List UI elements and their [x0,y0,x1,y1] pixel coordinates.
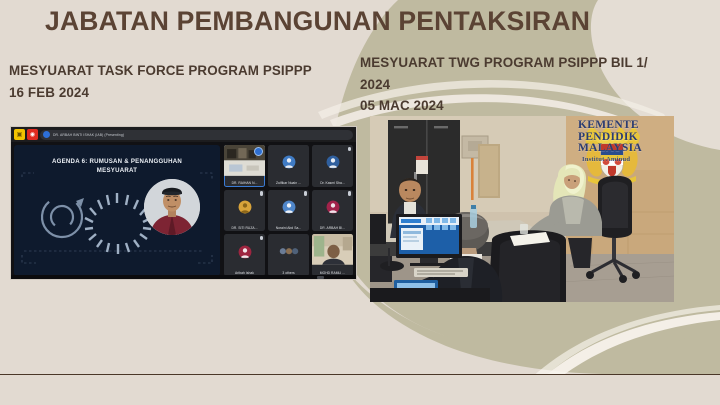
participant-name: Aribah Ishak [226,271,263,275]
participant-tile[interactable]: Zulfikar Nuain ... [268,145,309,187]
shared-screen-stage[interactable]: AGENDA 6: RUMUSAN & PENANGGUHAN MESYUARA… [14,145,220,276]
zoom-toolbar-control-icon[interactable] [317,276,324,279]
participant-avatar-icon [238,245,251,258]
presenter-portrait-illustration [144,179,200,235]
photo-content: KEMENTE PENDIDIK MALAYSIA Institut Aminu… [370,116,674,302]
participant-name: DR. ARBAH BI... [314,226,351,230]
subtitle-left-block: MESYUARAT TASK FORCE PROGRAM PSIPPP 16 F… [9,60,349,103]
muted-microphone-icon [260,236,263,241]
participant-tile[interactable]: DR. ARBAH BI... [312,190,353,232]
participant-tile-others[interactable]: 3 others [268,234,309,276]
presenter-avatar-icon [43,131,50,138]
presenter-status-text: DR. ARBAH BINTI ISHAK (IAB) (Presenting) [53,133,124,137]
zoom-body: AGENDA 6: RUMUSAN & PENANGGUHAN MESYUARA… [11,142,356,279]
wall-signage-line3: MALAYSIA [578,143,674,155]
shared-slide-heading-line1: AGENDA 6: RUMUSAN & PENANGGUHAN [52,158,182,165]
participant-name: DR. RAIHAN N... [226,181,263,185]
participant-name: 3 others [270,271,307,275]
participant-name: Noraini Abd Sa... [270,226,307,230]
participant-tile[interactable]: MOHD RAMLI ... [312,234,353,276]
active-speaker-badge-icon [254,147,263,156]
participant-tile[interactable]: DR. SITI RUZA... [224,190,265,232]
muted-microphone-icon [260,191,263,196]
participant-avatar-icon [282,156,295,169]
wall-signage-line1: KEMENTE [578,120,674,132]
subtitle-right-line2: 2024 [360,74,678,96]
presenter-portrait [144,179,200,235]
zoom-toolbar[interactable] [11,275,356,279]
muted-microphone-icon [304,191,307,196]
participant-tile[interactable]: Aribah Ishak [224,234,265,276]
participant-video-feed [312,234,353,265]
presenter-status-pill[interactable]: DR. ARBAH BINTI ISHAK (IAB) (Presenting) [40,130,353,140]
participant-tile[interactable]: DR. RAIHAN N... [224,145,265,187]
participant-name: Zulfikar Nuain ... [270,181,307,185]
group-avatars-icon [279,246,299,257]
participant-name: DR. SITI RUZA... [226,226,263,230]
screen-share-indicator-icon[interactable]: ▣ [14,129,25,140]
subtitle-left-line1: MESYUARAT TASK FORCE PROGRAM PSIPPP [9,60,349,82]
participant-avatar-icon [238,201,251,214]
participant-name: MOHD RAMLI ... [314,271,351,275]
zoom-titlebar: ▣ ◉ DR. ARBAH BINTI ISHAK (IAB) (Present… [11,127,356,142]
wall-signage: KEMENTE PENDIDIK MALAYSIA Institut Aminu… [578,120,674,163]
participant-avatar-icon [326,156,339,169]
subtitle-left-line2: 16 FEB 2024 [9,82,349,104]
slide-canvas: JABATAN PEMBANGUNAN PENTAKSIRAN MESYUARA… [0,0,720,405]
meeting-room-photograph: KEMENTE PENDIDIK MALAYSIA Institut Aminu… [370,116,674,302]
muted-microphone-icon [348,147,351,152]
zoom-meeting-screenshot: ▣ ◉ DR. ARBAH BINTI ISHAK (IAB) (Present… [10,126,357,280]
participant-avatar-icon [326,201,339,214]
subtitle-right-line1: MESYUARAT TWG PROGRAM PSIPPP BIL 1/ [360,52,678,74]
muted-microphone-icon [348,191,351,196]
wall-signage-line4: Institut Aminud [582,157,674,164]
recording-indicator-icon[interactable]: ◉ [27,129,38,140]
participant-tile[interactable]: Dr. Kasmi Sha... [312,145,353,187]
subtitle-right-block: MESYUARAT TWG PROGRAM PSIPPP BIL 1/ 2024… [360,52,678,117]
participant-tile[interactable]: Noraini Abd Sa... [268,190,309,232]
participant-name: Dr. Kasmi Sha... [314,181,351,185]
participant-grid: DR. RAIHAN N... Zulfikar Nuain ... [224,145,353,276]
zoom-window: ▣ ◉ DR. ARBAH BINTI ISHAK (IAB) (Present… [11,127,356,279]
bottom-divider [0,374,720,375]
participant-avatar-icon [282,201,295,214]
slide-title: JABATAN PEMBANGUNAN PENTAKSIRAN [45,6,645,36]
subtitle-right-line3: 05 MAC 2024 [360,95,678,117]
